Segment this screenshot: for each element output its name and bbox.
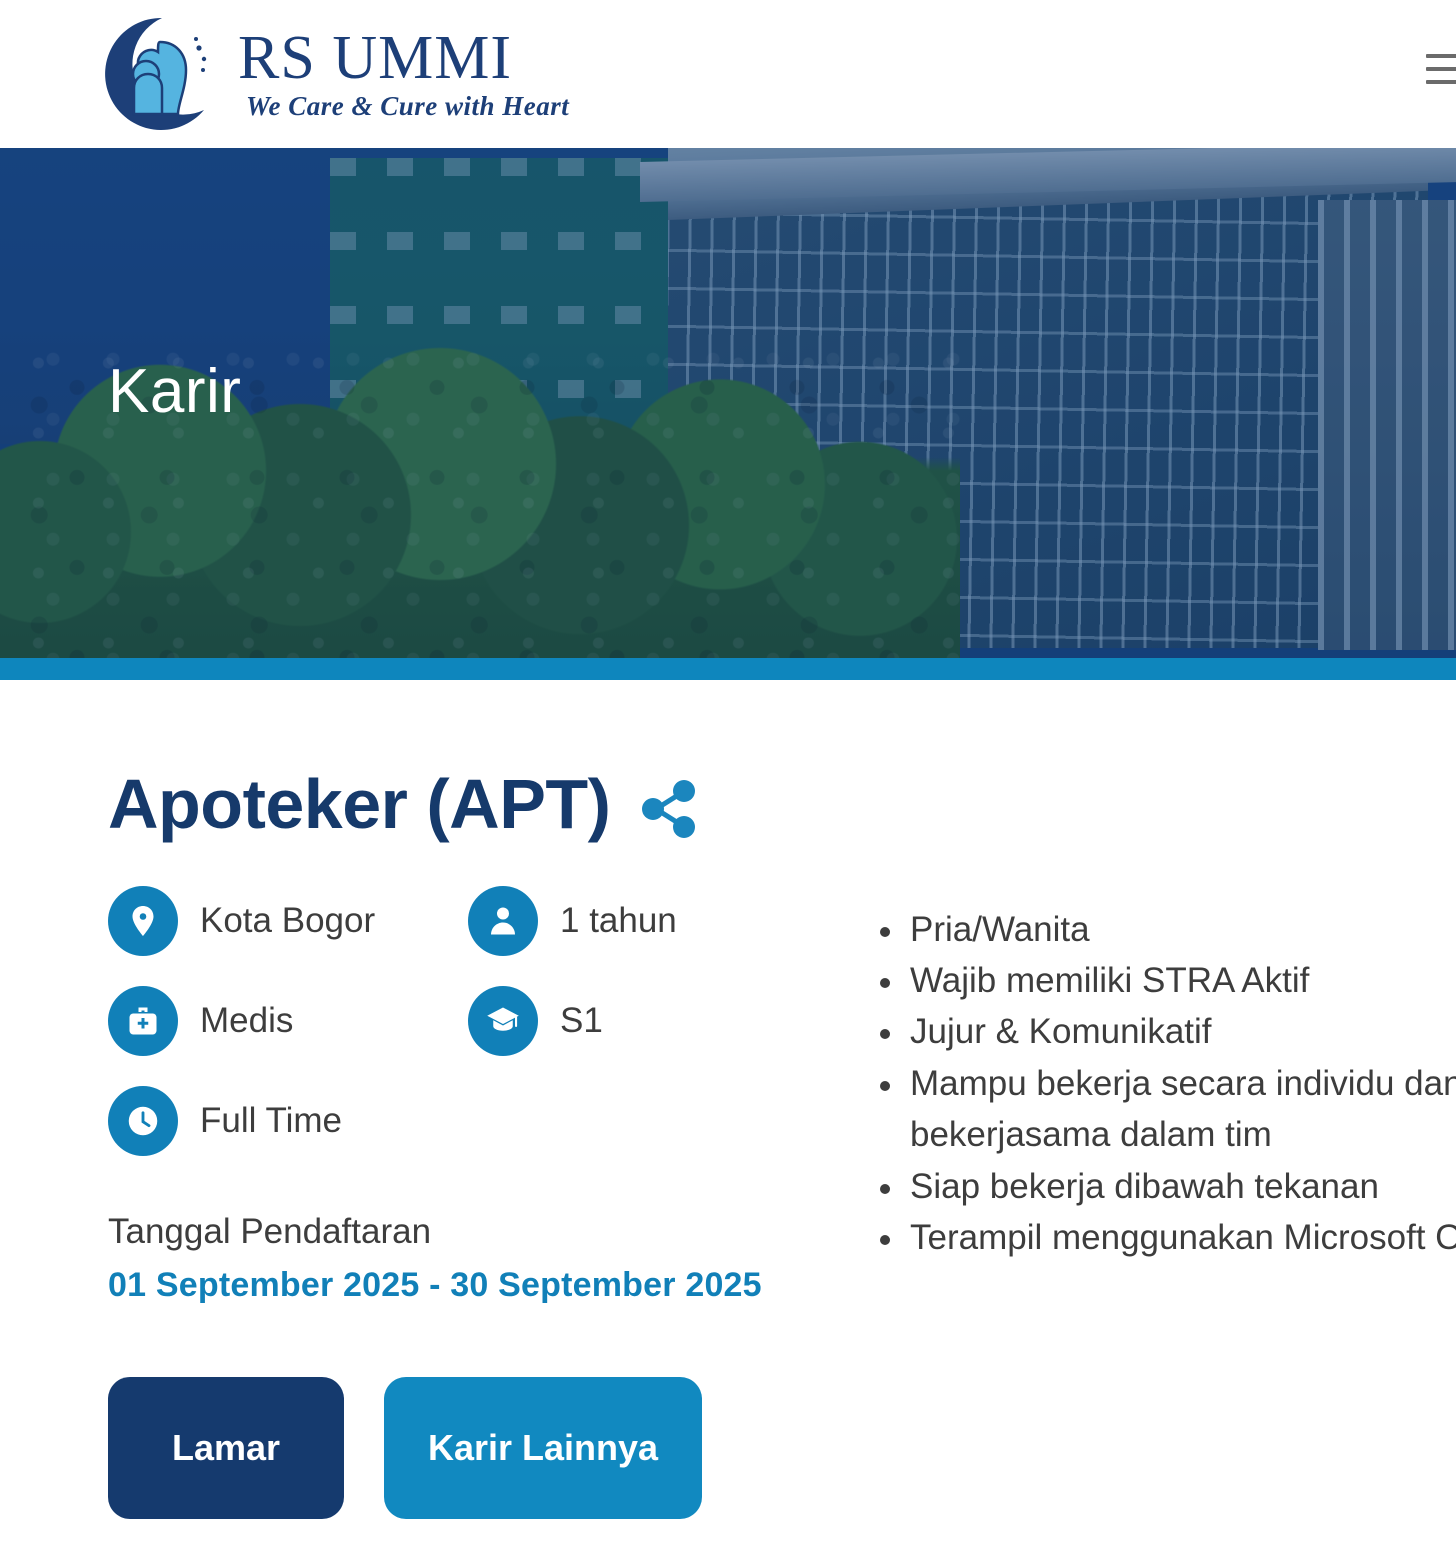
hamburger-bar xyxy=(1426,67,1456,71)
meta-label-category: Medis xyxy=(200,1001,293,1041)
job-content-columns: Kota Bogor 1 tahun Medis xyxy=(0,886,1456,1519)
share-icon[interactable] xyxy=(638,778,700,840)
meta-item-experience: 1 tahun xyxy=(468,886,828,956)
rs-ummi-crescent-mother-child-logo xyxy=(100,12,224,136)
job-meta-grid: Kota Bogor 1 tahun Medis xyxy=(108,886,868,1156)
site-logo[interactable]: RS UMMI We Care & Cure with Heart xyxy=(100,14,569,134)
page-title: Karir xyxy=(108,356,241,427)
person-icon xyxy=(468,886,538,956)
job-action-buttons: Lamar Karir Lainnya xyxy=(108,1377,868,1519)
registration-period-dates: 01 September 2025 - 30 September 2025 xyxy=(108,1266,868,1305)
site-header: RS UMMI We Care & Cure with Heart xyxy=(0,0,1456,148)
job-title: Apoteker (APT) xyxy=(108,768,610,842)
job-detail-section: Apoteker (APT) Kota Bogor xyxy=(0,680,1456,1519)
meta-item-education: S1 xyxy=(468,986,828,1056)
logo-tagline: We Care & Cure with Heart xyxy=(246,91,569,122)
hero-accent-bar xyxy=(0,658,1456,680)
job-title-row: Apoteker (APT) xyxy=(0,768,1456,842)
hamburger-bar xyxy=(1426,54,1456,58)
requirement-item: Jujur & Komunikatif xyxy=(868,1006,1456,1057)
meta-item-type: Full Time xyxy=(108,1086,468,1156)
meta-label-experience: 1 tahun xyxy=(560,901,677,941)
requirement-item: Wajib memiliki STRA Aktif xyxy=(868,955,1456,1006)
job-requirements-column: Pria/Wanita Wajib memiliki STRA Aktif Ju… xyxy=(868,886,1456,1519)
clock-icon xyxy=(108,1086,178,1156)
registration-period-label: Tanggal Pendaftaran xyxy=(108,1212,868,1252)
meta-label-education: S1 xyxy=(560,1001,603,1041)
medical-bag-icon xyxy=(108,986,178,1056)
requirements-list: Pria/Wanita Wajib memiliki STRA Aktif Ju… xyxy=(868,904,1456,1264)
hero-banner: Karir xyxy=(0,148,1456,658)
requirement-item: Siap bekerja dibawah tekanan xyxy=(868,1161,1456,1212)
location-pin-icon xyxy=(108,886,178,956)
graduation-cap-icon xyxy=(468,986,538,1056)
requirement-item: Pria/Wanita xyxy=(868,904,1456,955)
apply-button[interactable]: Lamar xyxy=(108,1377,344,1519)
logo-title: RS UMMI xyxy=(238,27,569,89)
job-meta-column: Kota Bogor 1 tahun Medis xyxy=(108,886,868,1519)
requirement-item: Terampil menggunakan Microsoft Office xyxy=(868,1212,1456,1263)
other-jobs-button[interactable]: Karir Lainnya xyxy=(384,1377,702,1519)
meta-label-type: Full Time xyxy=(200,1101,342,1141)
requirement-item: Mampu bekerja secara individu dan bekerj… xyxy=(868,1058,1456,1161)
meta-label-location: Kota Bogor xyxy=(200,901,375,941)
meta-item-location: Kota Bogor xyxy=(108,886,468,956)
hamburger-menu-icon[interactable] xyxy=(1426,54,1456,84)
meta-item-category: Medis xyxy=(108,986,468,1056)
hamburger-bar xyxy=(1426,80,1456,84)
